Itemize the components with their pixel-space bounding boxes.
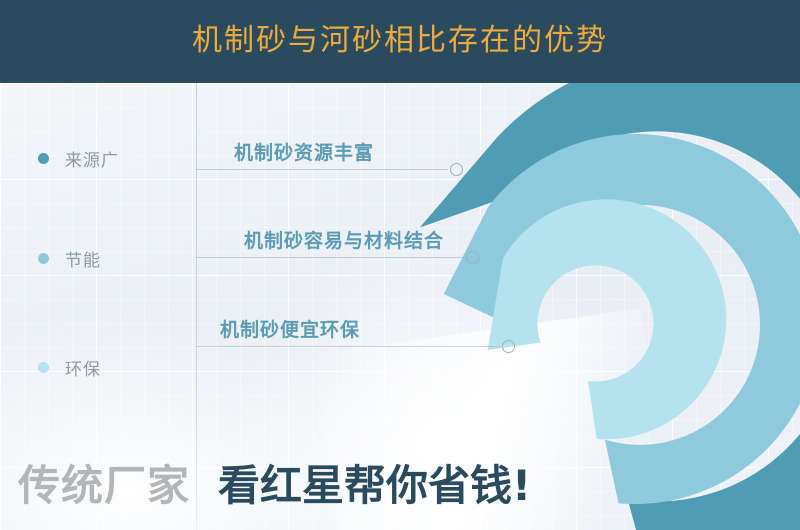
infographic-poster: 机制砂与河砂相比存在的优势 来源广 节能 环保 机制砂资源丰富 机制砂容易与材料… (0, 0, 800, 530)
header-band: 机制砂与河砂相比存在的优势 (0, 0, 800, 83)
footer-traditional-label: 传统厂家 (18, 452, 190, 513)
callout-row-resource[interactable]: 机制砂资源丰富 (196, 133, 476, 173)
callout-row-bonding[interactable]: 机制砂容易与材料结合 (196, 221, 492, 261)
callout-label: 机制砂便宜环保 (220, 315, 360, 342)
circle-marker-icon (450, 163, 463, 176)
bullet-dot-icon (38, 153, 49, 164)
callout-row-cheap-eco[interactable]: 机制砂便宜环保 (196, 310, 528, 350)
circle-marker-icon (502, 340, 515, 353)
sidebar-item-source[interactable]: 来源广 (38, 146, 119, 171)
callout-leader-line (196, 346, 500, 347)
footer-promo-label: 看红星帮你省钱! (218, 452, 531, 513)
callout-label: 机制砂容易与材料结合 (244, 226, 444, 253)
page-title: 机制砂与河砂相比存在的优势 (0, 20, 800, 62)
sidebar-item-label: 节能 (65, 246, 101, 271)
bullet-dot-icon (38, 253, 49, 264)
circle-marker-icon (466, 251, 479, 264)
sidebar-item-energy[interactable]: 节能 (38, 246, 101, 271)
sidebar-item-eco[interactable]: 环保 (38, 355, 101, 380)
callout-leader-line (196, 169, 448, 170)
sidebar-item-label: 环保 (65, 355, 101, 380)
sidebar-item-label: 来源广 (65, 146, 119, 171)
bullet-dot-icon (38, 362, 49, 373)
callout-leader-line (196, 257, 464, 258)
callout-label: 机制砂资源丰富 (234, 138, 374, 165)
